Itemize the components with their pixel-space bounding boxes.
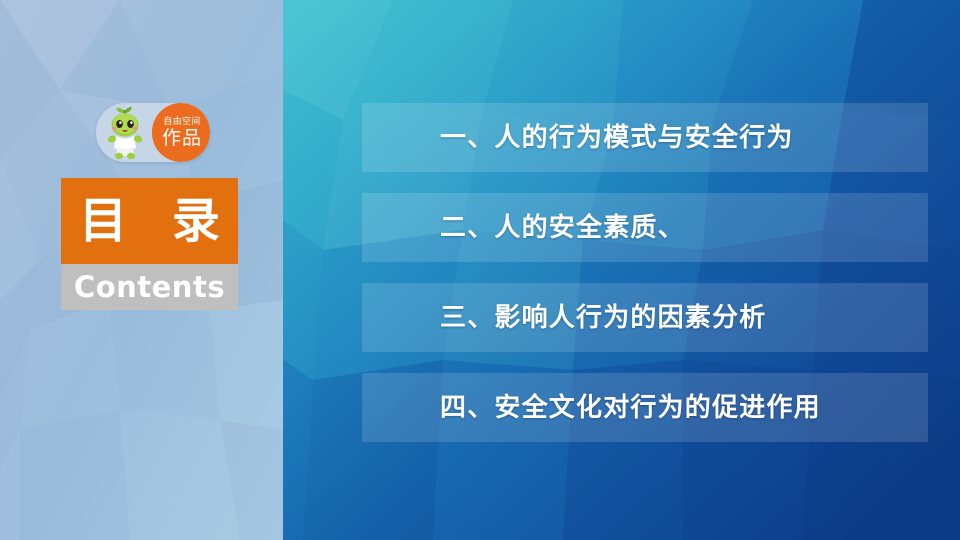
right-panel: 一、人的行为模式与安全行为 二、人的安全素质、 三、影响人行为的因素分析 四、安… (283, 0, 960, 540)
presentation-slide: 自由空间 作品 目 录 Contents (0, 0, 960, 540)
toc-title-cn: 目 录 (65, 195, 234, 247)
toc-title-en: Contents (74, 271, 225, 303)
badge-text-block: 自由空间 作品 (152, 103, 210, 162)
badge-subtitle: 自由空间 (163, 117, 200, 128)
toc-menu-item-3[interactable]: 三、影响人行为的因素分析 (362, 283, 928, 352)
green-mascot-icon (102, 106, 148, 160)
toc-menu-item-4[interactable]: 四、安全文化对行为的促进作用 (362, 373, 928, 442)
toc-title-block: 目 录 Contents (61, 178, 238, 310)
left-panel: 自由空间 作品 目 录 Contents (0, 0, 283, 540)
mascot-container (96, 103, 152, 162)
toc-menu-list: 一、人的行为模式与安全行为 二、人的安全素质、 三、影响人行为的因素分析 四、安… (362, 103, 928, 442)
toc-menu-item-1-label: 一、人的行为模式与安全行为 (362, 123, 794, 153)
toc-menu-item-4-label: 四、安全文化对行为的促进作用 (362, 393, 821, 423)
toc-menu-item-1[interactable]: 一、人的行为模式与安全行为 (362, 103, 928, 172)
toc-menu-item-2-label: 二、人的安全素质、 (362, 213, 685, 243)
badge-title: 作品 (162, 128, 202, 149)
toc-menu-item-2[interactable]: 二、人的安全素质、 (362, 193, 928, 262)
toc-title-cn-box: 目 录 (61, 178, 238, 264)
brand-logo-badge: 自由空间 作品 (96, 103, 210, 162)
toc-title-en-box: Contents (61, 264, 238, 310)
toc-menu-item-3-label: 三、影响人行为的因素分析 (362, 303, 766, 333)
